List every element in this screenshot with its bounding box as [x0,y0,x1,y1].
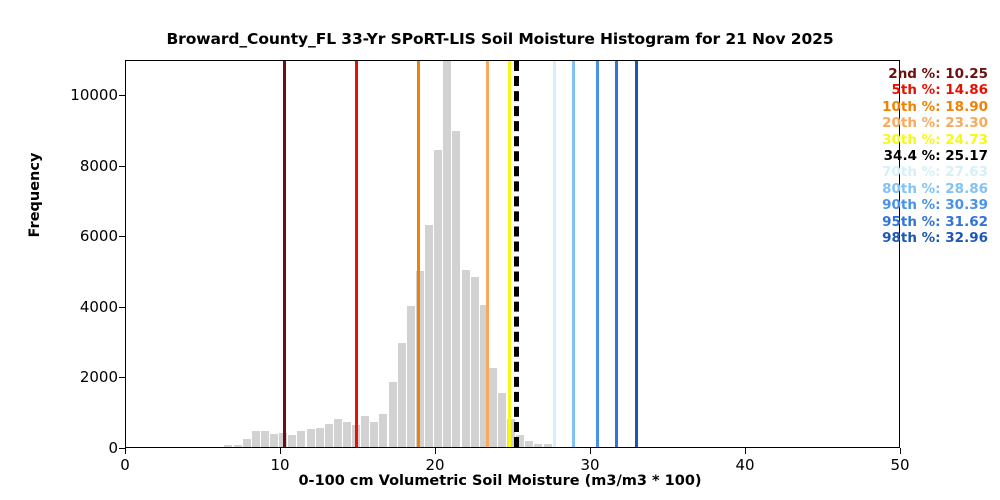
histogram-bar [343,422,351,447]
x-tick-label: 0 [120,456,130,474]
histogram-figure: Broward_County_FL 33-Yr SPoRT-LIS Soil M… [0,0,1000,500]
y-axis-label: Frequency [27,100,43,290]
legend-row: 30th %: 24.73 [882,132,988,148]
histogram-bar [452,131,460,447]
histogram-bar [489,368,497,447]
x-tick [745,448,746,454]
x-axis-label: 0-100 cm Volumetric Soil Moisture (m3/m3… [0,473,1000,489]
histogram-bar [398,343,406,447]
histogram-bar [544,444,552,447]
legend-row: 34.4 %: 25.17 [882,148,988,164]
legend-row: 20th %: 23.30 [882,115,988,131]
legend-row: 80th %: 28.86 [882,181,988,197]
histogram-bar [434,150,442,447]
histogram-bar [407,306,415,447]
histogram-bar [389,382,397,447]
y-tick-label: 4000 [80,298,118,316]
histogram-bar [224,445,232,447]
histogram-bar [252,431,260,447]
percentile-line-30th [508,61,511,447]
histogram-bar [234,445,242,447]
percentile-line-5th [355,61,358,447]
histogram-bar [370,422,378,447]
legend-row: 98th %: 32.96 [882,230,988,246]
histogram-bar [243,439,251,447]
x-tick-label: 30 [580,456,599,474]
percentile-line-34.4 [514,61,519,447]
chart-title: Broward_County_FL 33-Yr SPoRT-LIS Soil M… [0,30,1000,48]
histogram-bar [316,428,324,447]
histogram-bar [525,441,533,447]
percentile-line-70th [553,61,556,447]
percentile-line-95th [615,61,618,447]
y-tick [119,377,125,378]
histogram-bar [288,435,296,447]
percentile-legend: 2nd %: 10.255th %: 14.8610th %: 18.9020t… [882,66,988,246]
legend-row: 90th %: 30.39 [882,197,988,213]
histogram-bar [462,270,470,447]
legend-row: 5th %: 14.86 [882,82,988,98]
histogram-bar [297,431,305,447]
percentile-line-20th [486,61,489,447]
histogram-bar [325,424,333,447]
y-tick-label: 8000 [80,157,118,175]
percentile-line-2nd [283,61,286,447]
legend-row: 10th %: 18.90 [882,99,988,115]
histogram-bar [361,416,369,447]
histogram-bar [498,393,506,447]
percentile-line-80th [572,61,575,447]
histogram-bar [534,444,542,447]
histogram-bar [334,419,342,447]
histogram-bar [425,225,433,447]
y-tick-label: 6000 [80,227,118,245]
histogram-bar [471,277,479,447]
legend-row: 2nd %: 10.25 [882,66,988,82]
y-tick [119,307,125,308]
histogram-bar [443,60,451,447]
histogram-bar [270,434,278,447]
percentile-line-10th [417,61,420,447]
y-tick-label: 0 [108,439,118,457]
percentile-line-98th [635,61,638,447]
x-tick-label: 10 [270,456,289,474]
y-tick [119,166,125,167]
x-tick [590,448,591,454]
x-tick-label: 40 [735,456,754,474]
plot-area [125,60,900,448]
y-tick-label: 10000 [70,86,118,104]
x-tick [900,448,901,454]
histogram-bar [379,414,387,447]
legend-row: 95th %: 31.62 [882,214,988,230]
x-tick [280,448,281,454]
legend-row: 70th %: 27.63 [882,164,988,180]
histogram-bar [307,429,315,447]
x-tick [125,448,126,454]
percentile-line-90th [596,61,599,447]
y-tick [119,448,125,449]
y-tick [119,95,125,96]
y-tick-label: 2000 [80,368,118,386]
x-tick-label: 20 [425,456,444,474]
histogram-bar [261,431,269,447]
x-tick-label: 50 [890,456,909,474]
x-tick [435,448,436,454]
y-tick [119,236,125,237]
